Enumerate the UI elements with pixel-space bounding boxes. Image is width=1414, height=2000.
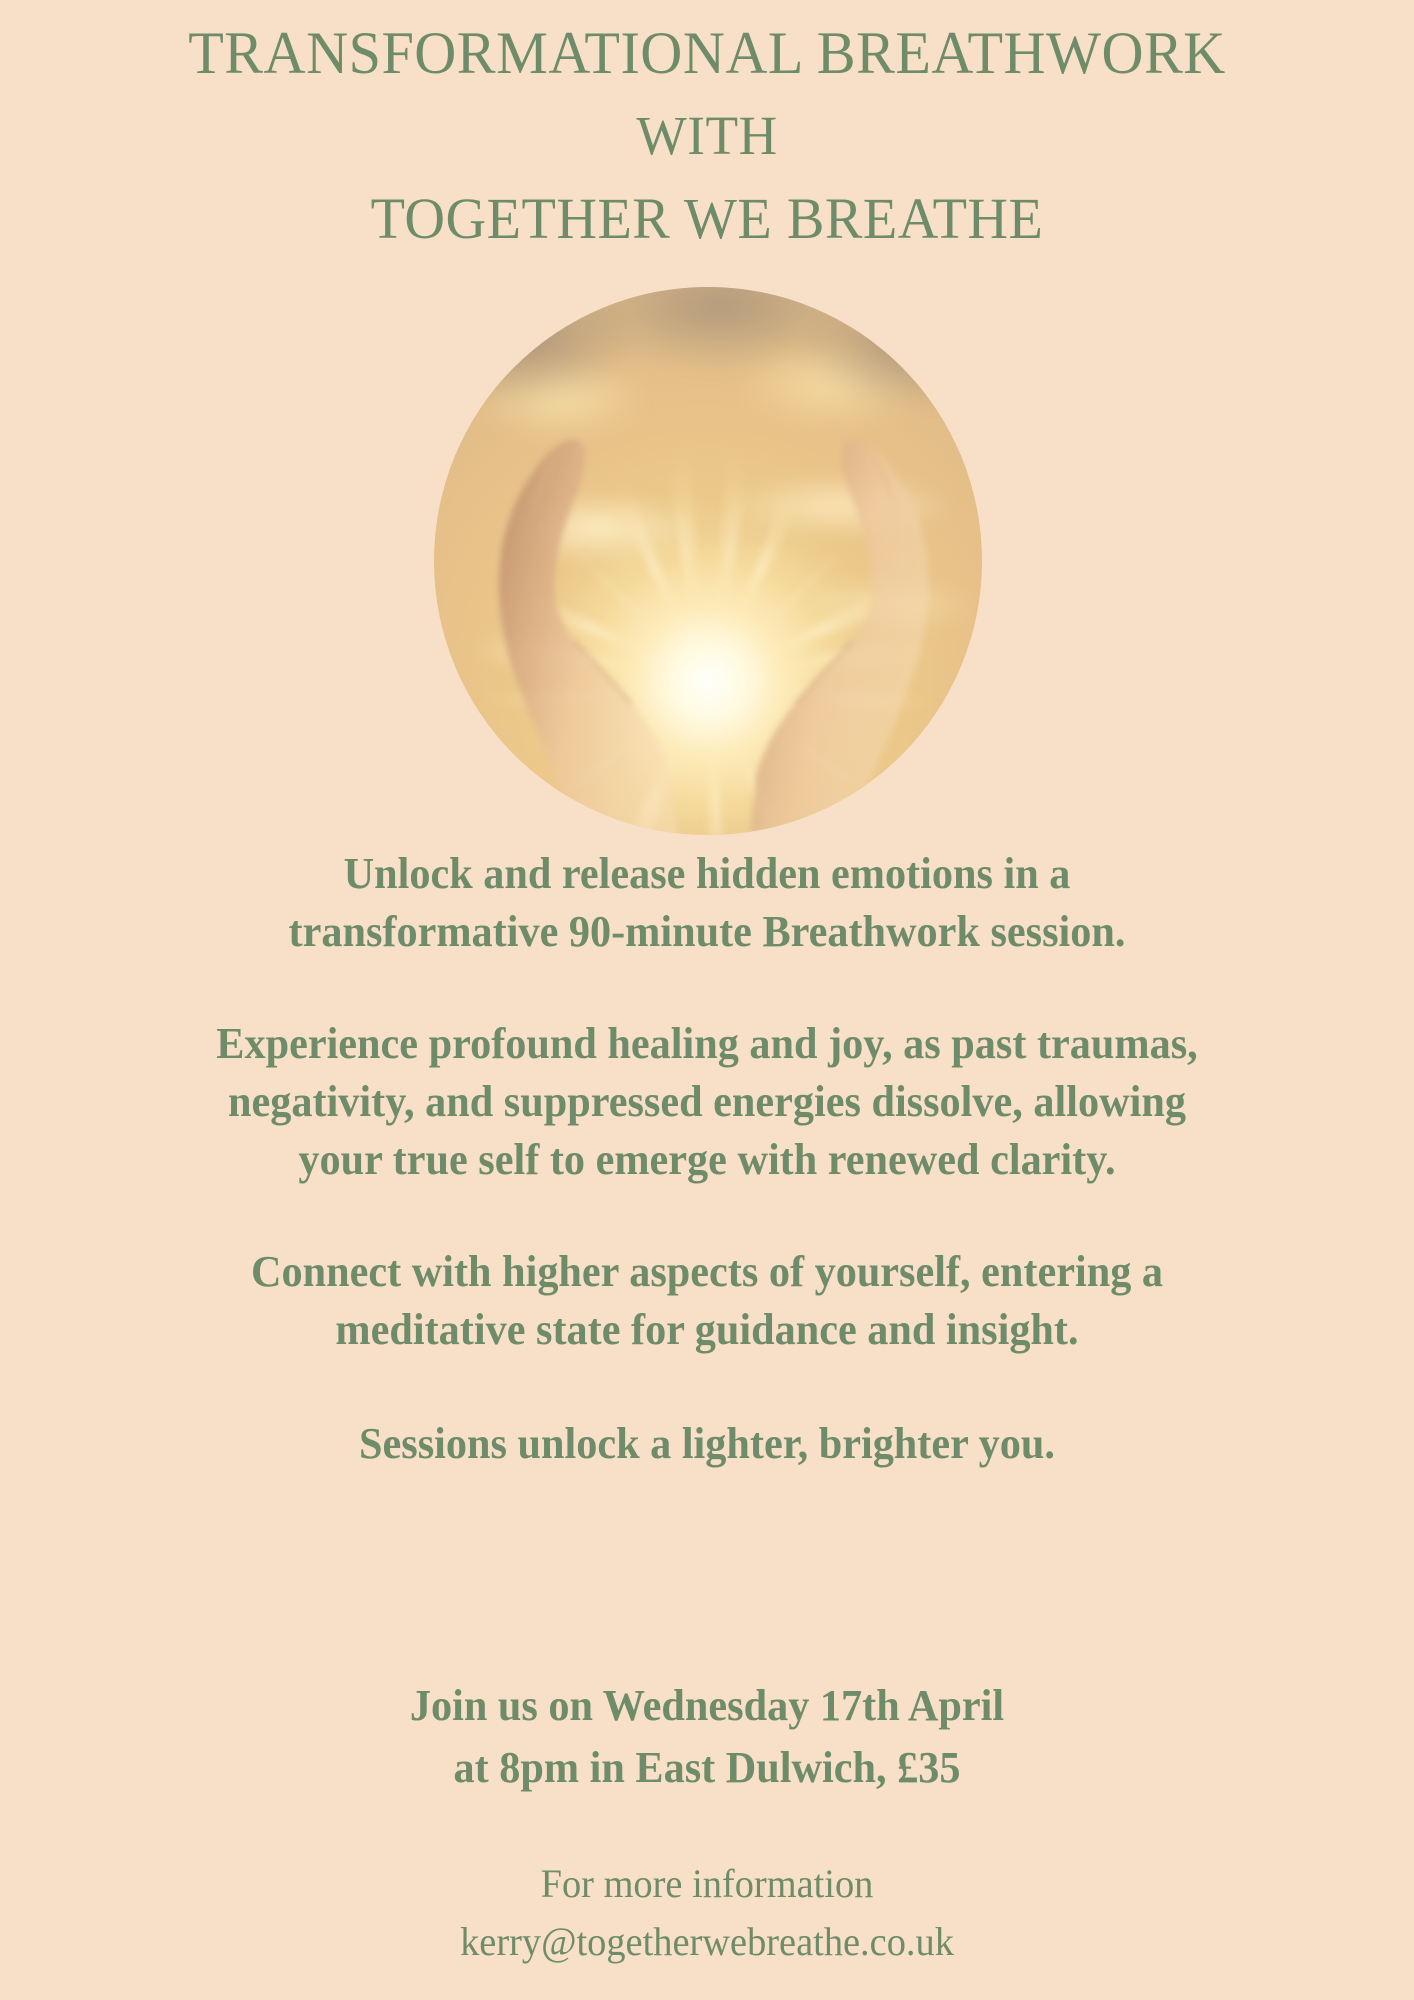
contact-label: For more information [28,1855,1385,1913]
paragraph-1: Unlock and release hidden emotions in a … [165,845,1250,961]
paragraph-1-line-2: transformative 90-minute Breathwork sess… [165,903,1250,961]
paragraph-3: Connect with higher aspects of yourself,… [165,1243,1250,1359]
paragraph-4: Sessions unlock a lighter, brighter you. [165,1415,1250,1473]
contact-email[interactable]: kerry@togetherwebreathe.co.uk [28,1913,1385,1971]
paragraph-2-line-2: negativity, and suppressed energies diss… [165,1073,1250,1131]
paragraph-1-line-1: Unlock and release hidden emotions in a [165,845,1250,903]
event-date-line: Join us on Wednesday 17th April [28,1675,1385,1737]
contact-block: For more information kerry@togetherwebre… [28,1855,1385,1971]
paragraph-4-line-1: Sessions unlock a lighter, brighter you. [165,1415,1250,1473]
paragraph-3-line-1: Connect with higher aspects of yourself,… [165,1243,1250,1301]
paragraph-2-line-1: Experience profound healing and joy, as … [165,1015,1250,1073]
title-line-2: WITH [21,101,1393,171]
left-hand-icon [478,397,697,835]
event-time-location-price-line: at 8pm in East Dulwich, £35 [28,1737,1385,1799]
title-line-1: TRANSFORMATIONAL BREATHWORK [21,18,1393,88]
paragraph-3-line-2: meditative state for guidance and insigh… [165,1301,1250,1359]
title-line-3: TOGETHER WE BREATHE [21,184,1393,254]
body-copy: Unlock and release hidden emotions in a … [0,845,1414,1473]
poster-canvas: TRANSFORMATIONAL BREATHWORK WITH TOGETHE… [0,0,1414,2000]
poster-title: TRANSFORMATIONAL BREATHWORK WITH TOGETHE… [0,18,1414,254]
paragraph-2: Experience profound healing and joy, as … [165,1015,1250,1189]
paragraph-2-line-3: your true self to emerge with renewed cl… [165,1131,1250,1189]
event-details: Join us on Wednesday 17th April at 8pm i… [28,1675,1385,1799]
right-hand-icon [730,397,949,835]
hero-image-circle [434,287,982,835]
